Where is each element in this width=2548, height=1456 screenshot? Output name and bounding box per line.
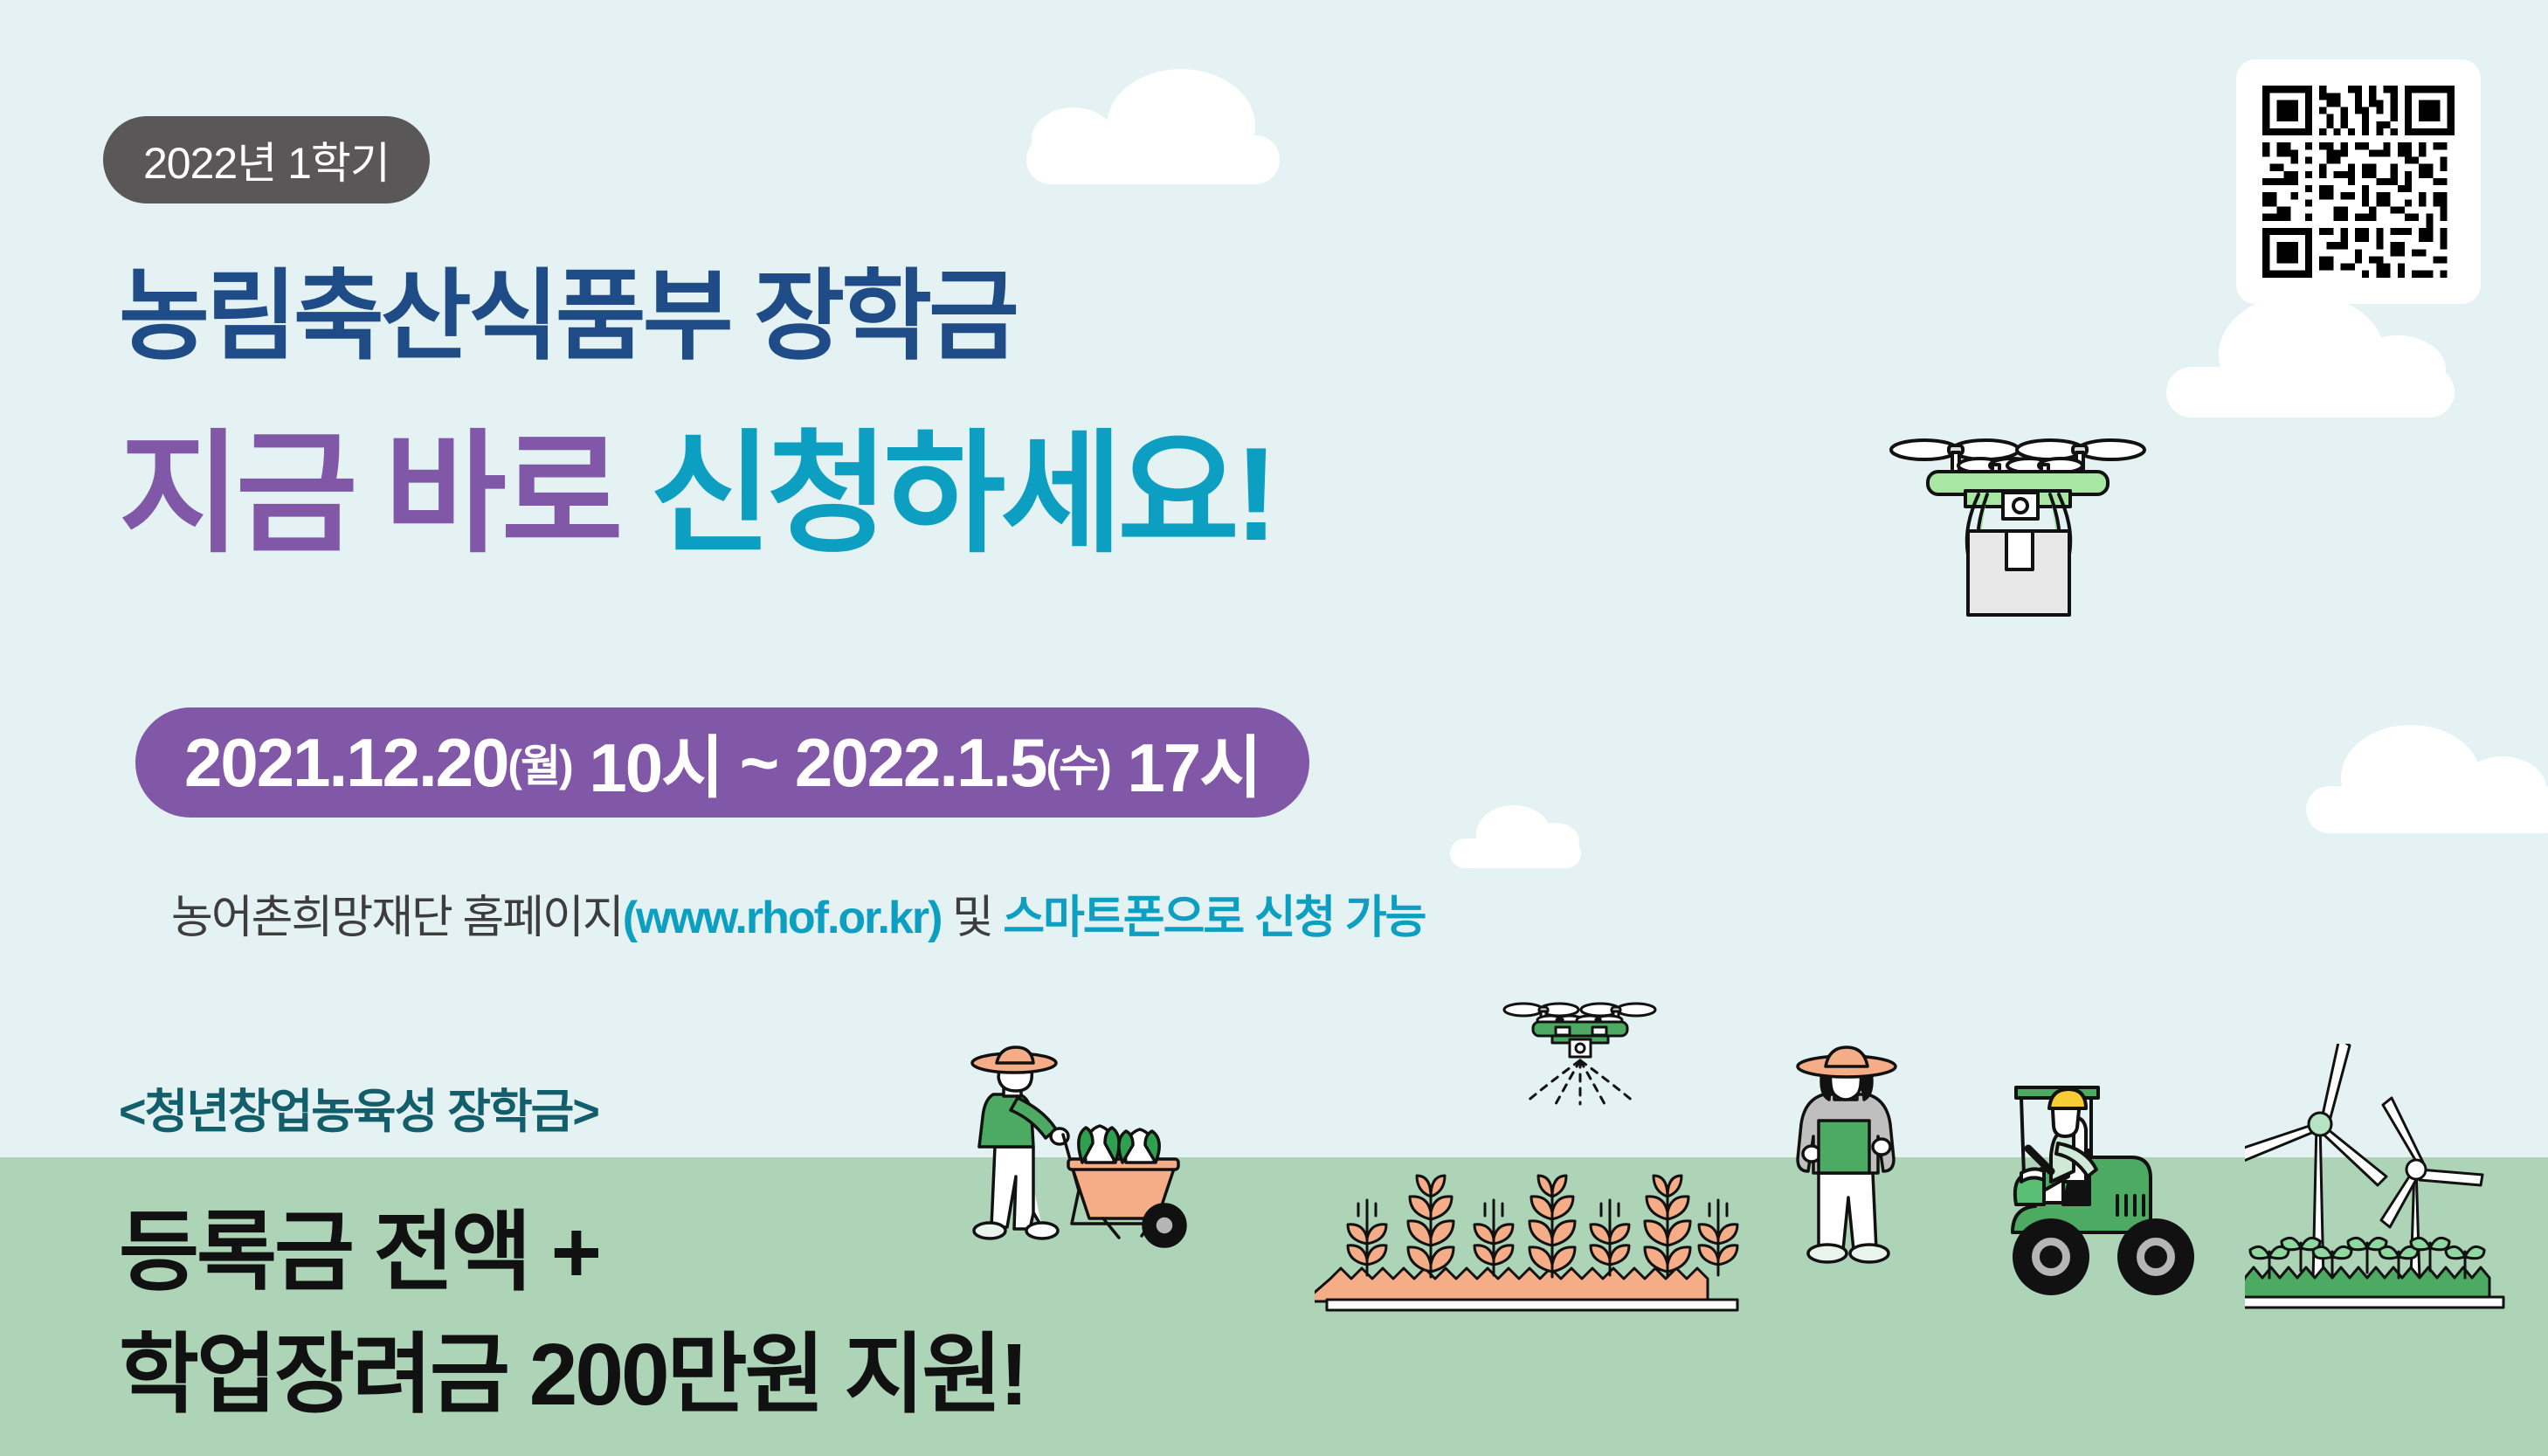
page-title: 농림축산식품부 장학금	[119, 236, 1016, 379]
delivery-drone-icon	[1874, 411, 2162, 629]
tractor-icon	[2009, 1079, 2262, 1315]
program-name-label: <청년창업농육성 장학금>	[119, 1086, 598, 1138]
benefit-line-2-label: 학업장려금 200만원 지원!	[119, 1326, 1026, 1424]
qr-code[interactable]	[2236, 59, 2481, 304]
headline-line-1: 농림축산식품부 장학금	[119, 261, 1016, 371]
cloud-icon	[1026, 135, 1280, 184]
benefit-line-1: 등록금 전액 +	[119, 1181, 599, 1308]
headline-teal-text: 신청하세요!	[650, 420, 1274, 569]
wind-turbines-icon	[2245, 1044, 2542, 1332]
farmer-wheelbarrow-icon	[948, 1044, 1210, 1271]
period-end-day: (수)	[1046, 731, 1109, 794]
application-channel-text: 농어촌희망재단 홈페이지(www.rhof.or.kr) 및 스마트폰으로 신청…	[171, 880, 1426, 946]
period-end-date: 2022.1.5	[795, 723, 1046, 803]
cloud-icon	[2166, 367, 2455, 417]
farmer-tablet-icon	[1773, 1044, 1948, 1306]
period-start-date: 2021.12.20	[184, 723, 508, 803]
period-end-time: 17시	[1127, 714, 1260, 811]
site-suffix: 스마트폰으로 신청 가능	[1003, 893, 1425, 943]
period-separator: ~	[740, 723, 778, 803]
scholarship-banner: 2022년 1학기 농림축산식품부 장학금 지금 바로 신청하세요! 2021.…	[0, 0, 2548, 1456]
cloud-icon	[2306, 786, 2548, 833]
headline-line-2: 지금 바로 신청하세요!	[119, 428, 1274, 561]
headline-purple-text: 지금 바로	[119, 420, 618, 569]
benefit-line-1-label: 등록금 전액 +	[119, 1204, 599, 1301]
program-name: <청년창업농육성 장학금>	[119, 1073, 598, 1142]
site-url[interactable]: (www.rhof.or.kr)	[623, 893, 942, 943]
qr-code-icon	[2255, 79, 2462, 285]
cloud-icon	[1450, 838, 1581, 868]
semester-badge: 2022년 1학기	[103, 116, 430, 204]
benefit-line-2: 학업장려금 200만원 지원!	[119, 1303, 1026, 1430]
site-middle: 및	[952, 893, 992, 943]
semester-badge-label: 2022년 1학기	[143, 128, 390, 191]
site-prefix: 농어촌희망재단 홈페이지	[171, 893, 623, 943]
spray-drone-field-icon	[1315, 987, 1751, 1319]
application-period-pill: 2021.12.20 (월) 10시 ~ 2022.1.5 (수) 17시	[135, 707, 1309, 818]
period-start-day: (월)	[508, 731, 571, 794]
period-start-time: 10시	[589, 714, 722, 811]
